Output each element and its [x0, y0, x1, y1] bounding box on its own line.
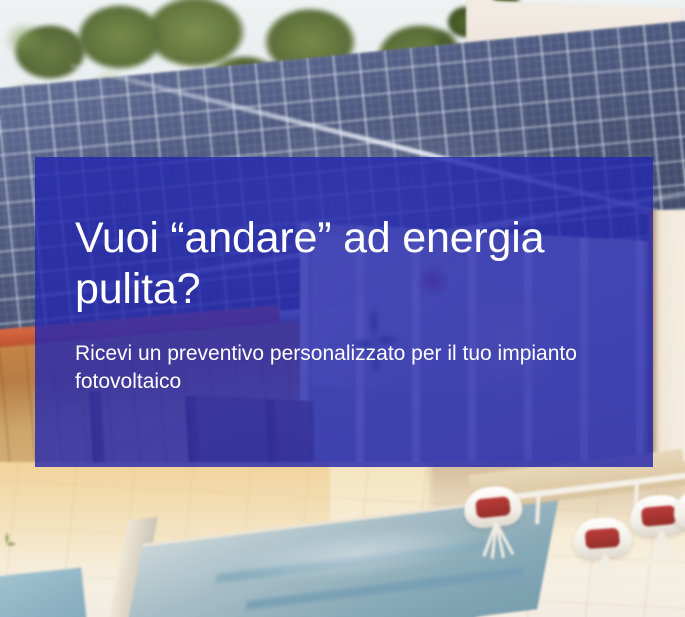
chair-legs — [478, 521, 518, 561]
chair-cushion — [585, 528, 620, 549]
pool-corner — [0, 568, 86, 617]
hero-subtitle: Ricevi un preventivo personalizzato per … — [75, 340, 595, 395]
page-title: Vuoi “andare” ad energia pulita? — [75, 213, 607, 314]
chair-legs — [643, 530, 682, 569]
chair-cushion — [475, 496, 511, 518]
hero-banner: Vuoi “andare” ad energia pulita? Ricevi … — [0, 0, 685, 617]
chair-cushion — [641, 505, 677, 527]
chair-legs — [586, 553, 624, 591]
hero-overlay-card: Vuoi “andare” ad energia pulita? Ricevi … — [35, 157, 653, 467]
hero-copy: Vuoi “andare” ad energia pulita? Ricevi … — [75, 213, 607, 396]
small-plant — [2, 528, 18, 550]
